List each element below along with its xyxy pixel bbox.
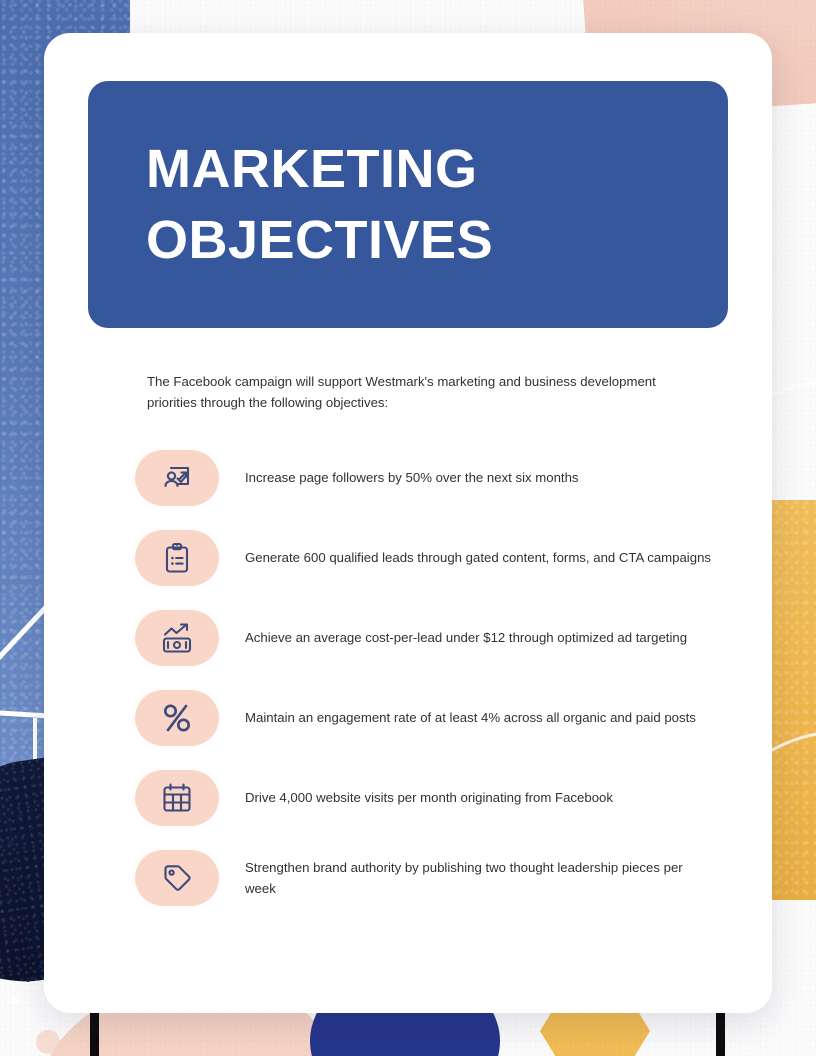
list-item: Increase page followers by 50% over the … [135, 438, 735, 518]
background-navy-speck-2 [30, 826, 34, 830]
percent-icon [135, 690, 219, 746]
background-navy-speck-3 [8, 840, 14, 846]
background-dot-white-1 [10, 996, 19, 1005]
list-item-label: Increase page followers by 50% over the … [245, 467, 579, 488]
list-item-label: Strengthen brand authority by publishing… [245, 857, 715, 900]
background-navy-speck-1 [18, 812, 23, 817]
list-item-label: Achieve an average cost-per-lead under $… [245, 627, 687, 648]
list-item-label: Drive 4,000 website visits per month ori… [245, 787, 613, 808]
background-navy-speck-5 [26, 978, 30, 982]
list-item: Maintain an engagement rate of at least … [135, 678, 735, 758]
clipboard-checklist-icon [135, 530, 219, 586]
list-item: Strengthen brand authority by publishing… [135, 838, 735, 918]
calendar-icon [135, 770, 219, 826]
page-title-line-2: Objectives [146, 205, 670, 276]
list-item-label: Maintain an engagement rate of at least … [245, 707, 696, 728]
audience-growth-icon [135, 450, 219, 506]
page-title-line-1: Marketing [146, 134, 670, 205]
list-item-label: Generate 600 qualified leads through gat… [245, 547, 711, 568]
intro-paragraph: The Facebook campaign will support Westm… [147, 371, 675, 414]
objectives-list: Increase page followers by 50% over the … [135, 438, 735, 918]
tag-icon [135, 850, 219, 906]
document-card: Marketing Objectives The Facebook campai… [44, 33, 772, 1013]
money-trending-up-icon [135, 610, 219, 666]
list-item: Achieve an average cost-per-lead under $… [135, 598, 735, 678]
page-root: Marketing Objectives The Facebook campai… [0, 0, 816, 1056]
list-item: Generate 600 qualified leads through gat… [135, 518, 735, 598]
title-banner: Marketing Objectives [88, 81, 728, 328]
list-item: Drive 4,000 website visits per month ori… [135, 758, 735, 838]
